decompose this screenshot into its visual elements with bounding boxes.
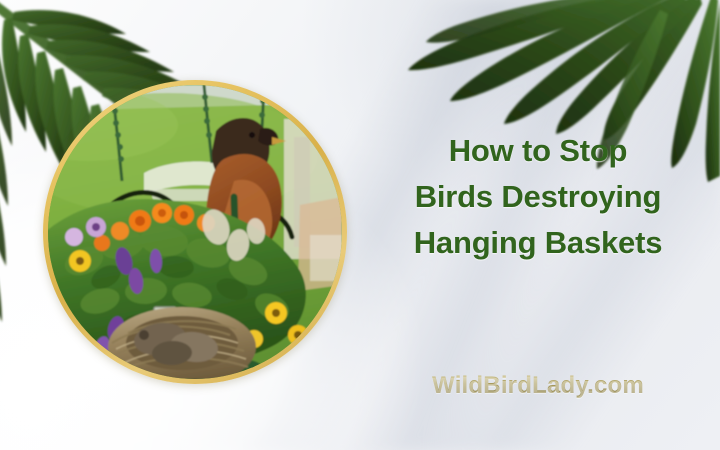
hero-photo bbox=[48, 85, 342, 379]
headline-line-1: How to Stop bbox=[368, 128, 708, 174]
headline-line-2: Birds Destroying bbox=[368, 174, 708, 220]
promo-card: How to Stop Birds Destroying Hanging Bas… bbox=[0, 0, 720, 450]
headline: How to Stop Birds Destroying Hanging Bas… bbox=[368, 128, 708, 266]
headline-line-3: Hanging Baskets bbox=[368, 220, 708, 266]
hero-photo-ring bbox=[43, 80, 347, 384]
site-name: WildBirdLady.com bbox=[368, 372, 708, 400]
hanging-basket-photo-illustration bbox=[48, 85, 342, 379]
